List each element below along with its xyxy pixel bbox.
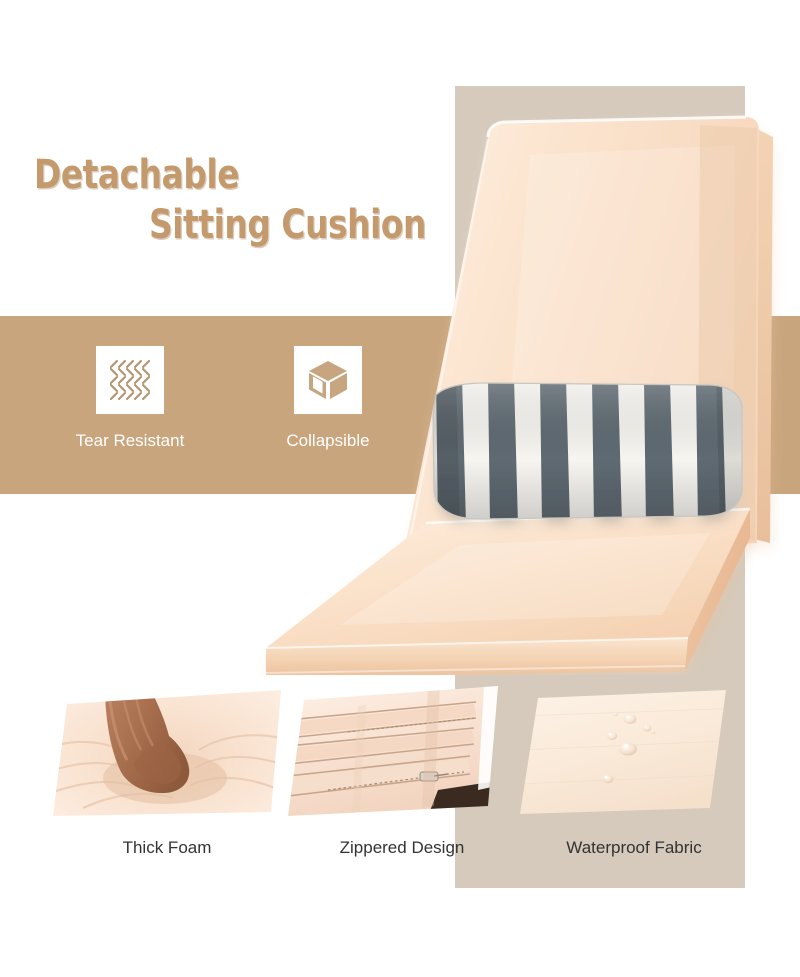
woven-fabric-icon	[105, 355, 155, 405]
feature-tear-resistant: Tear Resistant	[55, 346, 205, 451]
thumbnail-caption-thick-foam: Thick Foam	[53, 838, 281, 858]
thumbnail-caption-waterproof-fabric: Waterproof Fabric	[520, 838, 748, 858]
feature-collapsible: Collapsible	[253, 346, 403, 451]
thumbnail-row: Thick Foam	[0, 686, 800, 906]
zipper-closure-photo	[288, 686, 516, 816]
thumbnail-waterproof-fabric: Waterproof Fabric	[520, 686, 748, 816]
collapsible-box-icon	[305, 357, 351, 403]
product-infographic: Detachable Sitting Cushion	[0, 0, 800, 977]
thumbnail-zippered-design: Zippered Design	[288, 686, 516, 816]
water-beading-fabric-photo	[520, 686, 748, 816]
feature-icon-container	[294, 346, 362, 414]
feature-label-tear-resistant: Tear Resistant	[55, 431, 205, 451]
feature-list: Tear Resistant Collapsible	[0, 316, 455, 494]
thumbnail-caption-zippered-design: Zippered Design	[288, 838, 516, 858]
hand-pressing-foam-photo	[53, 686, 281, 816]
seat-cushion	[266, 509, 750, 675]
striped-lumbar-pillow	[426, 375, 756, 527]
feature-icon-container	[96, 346, 164, 414]
feature-label-collapsible: Collapsible	[253, 431, 403, 451]
thumbnail-thick-foam: Thick Foam	[53, 686, 281, 816]
